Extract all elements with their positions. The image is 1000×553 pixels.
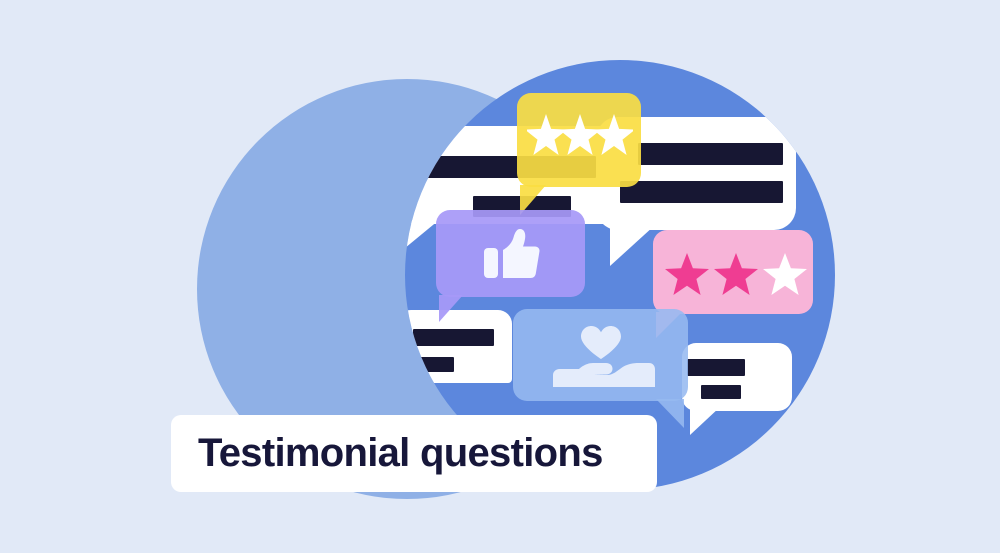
bubble-tail: [439, 295, 463, 322]
bubble-pink-rating: [653, 230, 813, 314]
star-icon: [763, 253, 807, 295]
heart-in-hand-icon: [545, 323, 657, 391]
text-bar: [687, 359, 745, 376]
star-rating-group: [527, 113, 633, 157]
star-icon: [559, 114, 601, 155]
page-title: Testimonial questions: [198, 431, 603, 476]
heart-shape: [581, 326, 621, 359]
text-bar: [701, 385, 741, 399]
bubble-tail: [690, 407, 720, 435]
hand-shape: [553, 363, 655, 387]
star-icon: [665, 253, 709, 295]
bubble-blue-heart-hand: [513, 309, 688, 401]
bubble-tail: [405, 379, 431, 409]
star-icon: [527, 114, 567, 155]
bubble-purple-thumbs-up: [436, 210, 585, 297]
thumbs-up-icon: [484, 228, 540, 282]
illustration-canvas: Testimonial questions: [0, 0, 1000, 553]
text-bar: [620, 181, 783, 203]
star-icon: [714, 253, 758, 295]
title-card: Testimonial questions: [171, 415, 657, 492]
star-rating-group: [665, 252, 807, 296]
bubble-tail: [405, 220, 439, 258]
star-icon: [593, 114, 633, 155]
bubble-tail: [656, 399, 684, 428]
bubble-tail: [610, 226, 654, 266]
text-bar: [413, 357, 454, 372]
text-bar: [413, 329, 494, 346]
text-bar: [638, 143, 783, 165]
bubble-white-bottom-right: [682, 343, 792, 411]
bubble-yellow-rating: [517, 93, 641, 187]
